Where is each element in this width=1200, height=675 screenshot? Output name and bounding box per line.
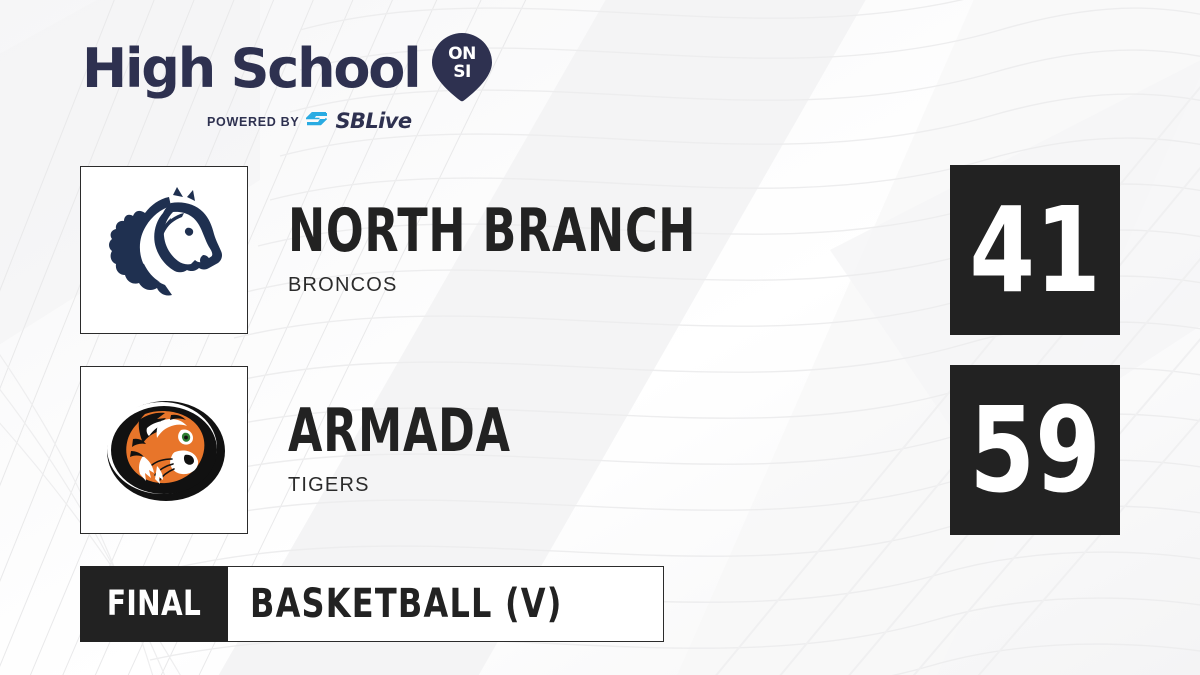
status-bar: FINAL BASKETBALL (V) xyxy=(80,566,664,642)
brand-lockup: High School ON SI POWERED BY SBLive xyxy=(82,36,512,132)
game-status-badge: FINAL xyxy=(80,566,228,642)
bronco-horse-head-logo-icon xyxy=(99,185,229,315)
game-status-label: FINAL xyxy=(107,584,202,624)
team-logo-box xyxy=(80,366,248,534)
scoreboard-graphic: High School ON SI POWERED BY SBLive xyxy=(0,0,1200,675)
team-logo-box xyxy=(80,166,248,334)
powered-by-row: POWERED BY SBLive xyxy=(207,111,512,132)
team-score: 59 xyxy=(969,391,1100,509)
team-text-block: ARMADA TIGERS xyxy=(288,403,950,497)
on-si-pin-icon: ON SI xyxy=(431,32,493,102)
team-text-block: NORTH BRANCH BRONCOS xyxy=(288,203,950,297)
brand-title-row: High School ON SI xyxy=(82,36,512,102)
pin-line-one: ON xyxy=(449,44,477,64)
sblive-wordmark: SBLive xyxy=(335,111,411,132)
team-score: 41 xyxy=(969,191,1100,309)
team-mascot: TIGERS xyxy=(288,474,950,497)
brand-wordmark: High School xyxy=(82,42,419,96)
sblive-s-mark-icon xyxy=(306,112,328,131)
team-mascot: BRONCOS xyxy=(288,274,950,297)
sport-label: BASKETBALL (V) xyxy=(250,581,563,627)
tiger-head-circle-logo-icon xyxy=(99,394,229,506)
powered-by-label: POWERED BY xyxy=(207,115,299,129)
team-name: NORTH BRANCH xyxy=(288,203,778,260)
pin-line-two: SI xyxy=(454,62,472,82)
sport-label-box: BASKETBALL (V) xyxy=(228,566,664,642)
team-score-box: 59 xyxy=(950,365,1120,535)
team-row: ARMADA TIGERS 59 xyxy=(80,365,1120,535)
team-name: ARMADA xyxy=(288,403,778,460)
team-row: NORTH BRANCH BRONCOS 41 xyxy=(80,165,1120,335)
team-score-box: 41 xyxy=(950,165,1120,335)
